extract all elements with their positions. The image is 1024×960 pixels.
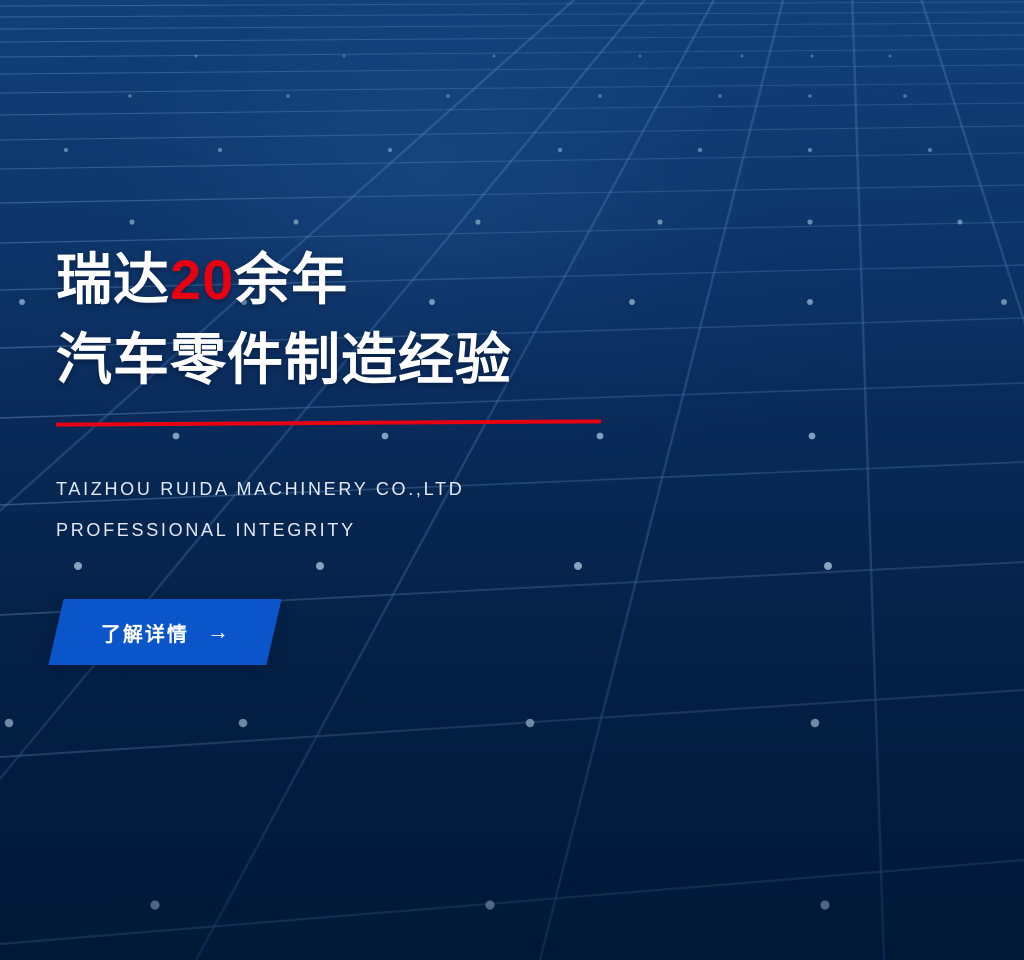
headline-line-2: 汽车零件制造经验 <box>56 320 776 400</box>
subtitle-line-1: TAIZHOU RUIDA MACHINERY CO.,LTD <box>56 469 776 510</box>
red-divider <box>56 419 601 426</box>
cta-container: 了解详情 → <box>56 599 776 665</box>
headline-prefix: 瑞达 <box>56 248 170 311</box>
subtitle-line-2: PROFESSIONAL INTEGRITY <box>56 510 776 551</box>
hero-content: 瑞达20余年 汽车零件制造经验 TAIZHOU RUIDA MACHINERY … <box>56 240 776 665</box>
learn-more-label: 了解详情 <box>101 618 189 647</box>
learn-more-button[interactable]: 了解详情 → <box>48 599 281 665</box>
arrow-right-icon: → <box>207 621 229 643</box>
headline-line-1: 瑞达20余年 <box>56 240 776 320</box>
hero-banner: 瑞达20余年 汽车零件制造经验 TAIZHOU RUIDA MACHINERY … <box>0 0 1024 960</box>
headline-accent-number: 20 <box>170 248 234 311</box>
headline-suffix: 余年 <box>234 248 348 311</box>
